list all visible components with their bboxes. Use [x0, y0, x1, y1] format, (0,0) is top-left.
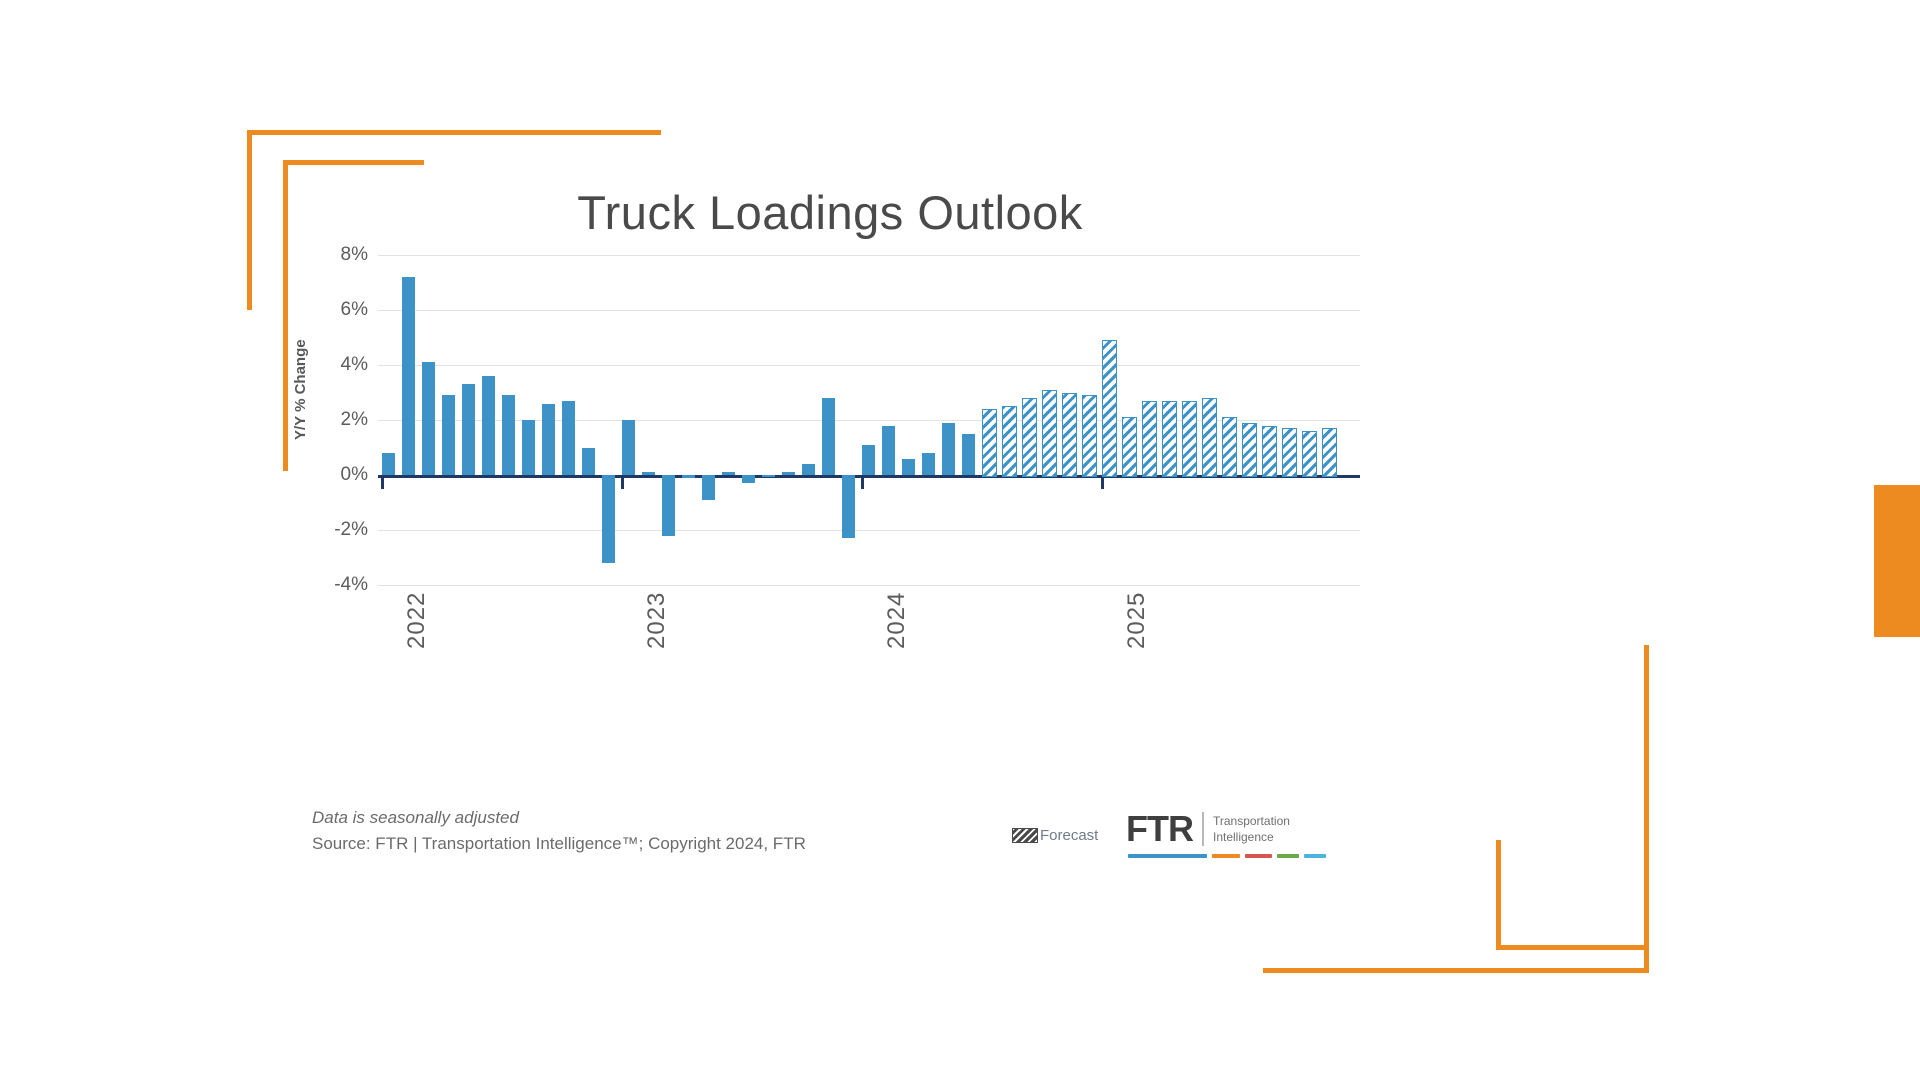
- chart-footer: Data is seasonally adjusted Source: FTR …: [300, 805, 1360, 895]
- bar: [1222, 417, 1237, 477]
- bar: [1022, 398, 1037, 477]
- x-tick-label-2025: 2025: [1123, 592, 1151, 649]
- x-tick-label-2024: 2024: [883, 592, 911, 649]
- bar: [462, 384, 475, 475]
- bar: [1082, 395, 1097, 477]
- logo-underline-segment: [1128, 854, 1207, 858]
- source-note: Source: FTR | Transportation Intelligenc…: [312, 831, 806, 857]
- bar: [902, 459, 915, 476]
- bar: [382, 453, 395, 475]
- gridline: [378, 585, 1360, 586]
- bar: [802, 464, 815, 475]
- ftr-underline-bars: [1128, 854, 1326, 858]
- bar: [1102, 340, 1117, 477]
- y-tick-label: -4%: [312, 574, 368, 596]
- chart-legend: Forecast: [1012, 827, 1098, 844]
- y-axis-ticks: 8%6%4%2%0%-2%-4%: [300, 255, 368, 585]
- y-tick-label: 4%: [312, 354, 368, 376]
- hatched-box-icon: [1012, 828, 1038, 843]
- logo-underline-segment: [1212, 854, 1240, 858]
- bar: [1202, 398, 1217, 477]
- bar: [922, 453, 935, 475]
- bar: [662, 475, 675, 536]
- bottom-right-inner-bracket-horizontal: [1497, 945, 1649, 950]
- logo-underline-segment: [1245, 854, 1273, 858]
- ftr-tagline: Transportation Intelligence: [1213, 813, 1290, 845]
- x-tick-label-2022: 2022: [403, 592, 431, 649]
- logo-underline-segment: [1277, 854, 1299, 858]
- bar: [562, 401, 575, 475]
- bar: [742, 475, 755, 483]
- bar: [1322, 428, 1337, 477]
- ftr-tagline-line1: Transportation: [1213, 814, 1290, 828]
- top-left-outer-bracket-horizontal: [247, 130, 661, 135]
- bar: [1262, 426, 1277, 478]
- bar: [1182, 401, 1197, 477]
- ftr-logo: FTR Transportation Intelligence: [1126, 811, 1326, 858]
- ftr-logo-row: FTR Transportation Intelligence: [1126, 811, 1326, 847]
- bar: [942, 423, 955, 475]
- bar: [1042, 390, 1057, 477]
- legend-label-forecast: Forecast: [1040, 827, 1098, 844]
- bar: [762, 475, 775, 477]
- bar: [722, 472, 735, 475]
- bar: [522, 420, 535, 475]
- bar: [1142, 401, 1157, 477]
- y-tick-label: 6%: [312, 299, 368, 321]
- bar: [542, 404, 555, 476]
- bar: [702, 475, 715, 500]
- bar: [1242, 423, 1257, 477]
- bar: [982, 409, 997, 477]
- logo-divider: [1202, 812, 1204, 846]
- bar: [1302, 431, 1317, 477]
- bar: [862, 445, 875, 475]
- x-axis-labels: 2022202320242025: [378, 593, 1360, 673]
- bar: [502, 395, 515, 475]
- y-tick-label: 0%: [312, 464, 368, 486]
- chart-card: Truck Loadings Outlook Y/Y % Change 8%6%…: [300, 160, 1360, 910]
- right-edge-accent-bar: [1874, 485, 1920, 637]
- bar: [602, 475, 615, 563]
- bar: [782, 472, 795, 475]
- bar: [622, 420, 635, 475]
- logo-underline-segment: [1304, 854, 1326, 858]
- bar: [1062, 393, 1077, 478]
- bar: [1162, 401, 1177, 477]
- chart-title: Truck Loadings Outlook: [300, 185, 1360, 240]
- bar: [442, 395, 455, 475]
- bottom-right-inner-bracket-vertical: [1496, 840, 1501, 950]
- plot-area: Y/Y % Change 8%6%4%2%0%-2%-4% 2022202320…: [300, 255, 1360, 735]
- top-left-inner-bracket-vertical: [283, 160, 288, 471]
- bar: [682, 475, 695, 478]
- bar: [642, 472, 655, 475]
- bottom-right-outer-bracket-horizontal: [1263, 968, 1649, 973]
- ftr-wordmark: FTR: [1126, 811, 1193, 847]
- bar: [822, 398, 835, 475]
- bar: [962, 434, 975, 475]
- top-left-outer-bracket-vertical: [247, 130, 252, 310]
- bottom-right-outer-bracket-vertical: [1644, 645, 1649, 973]
- bar: [422, 362, 435, 475]
- bar: [402, 277, 415, 475]
- y-tick-label: -2%: [312, 519, 368, 541]
- bar: [842, 475, 855, 538]
- bar: [882, 426, 895, 476]
- y-tick-label: 8%: [312, 244, 368, 266]
- bar: [482, 376, 495, 475]
- y-tick-label: 2%: [312, 409, 368, 431]
- seasonal-adjustment-note: Data is seasonally adjusted: [312, 805, 806, 831]
- x-tick-label-2023: 2023: [643, 592, 671, 649]
- bar: [1002, 406, 1017, 477]
- bar: [582, 448, 595, 476]
- bar: [1122, 417, 1137, 477]
- ftr-tagline-line2: Intelligence: [1213, 830, 1274, 844]
- bar: [1282, 428, 1297, 477]
- footer-notes: Data is seasonally adjusted Source: FTR …: [312, 805, 806, 858]
- bar-series: [378, 255, 1360, 585]
